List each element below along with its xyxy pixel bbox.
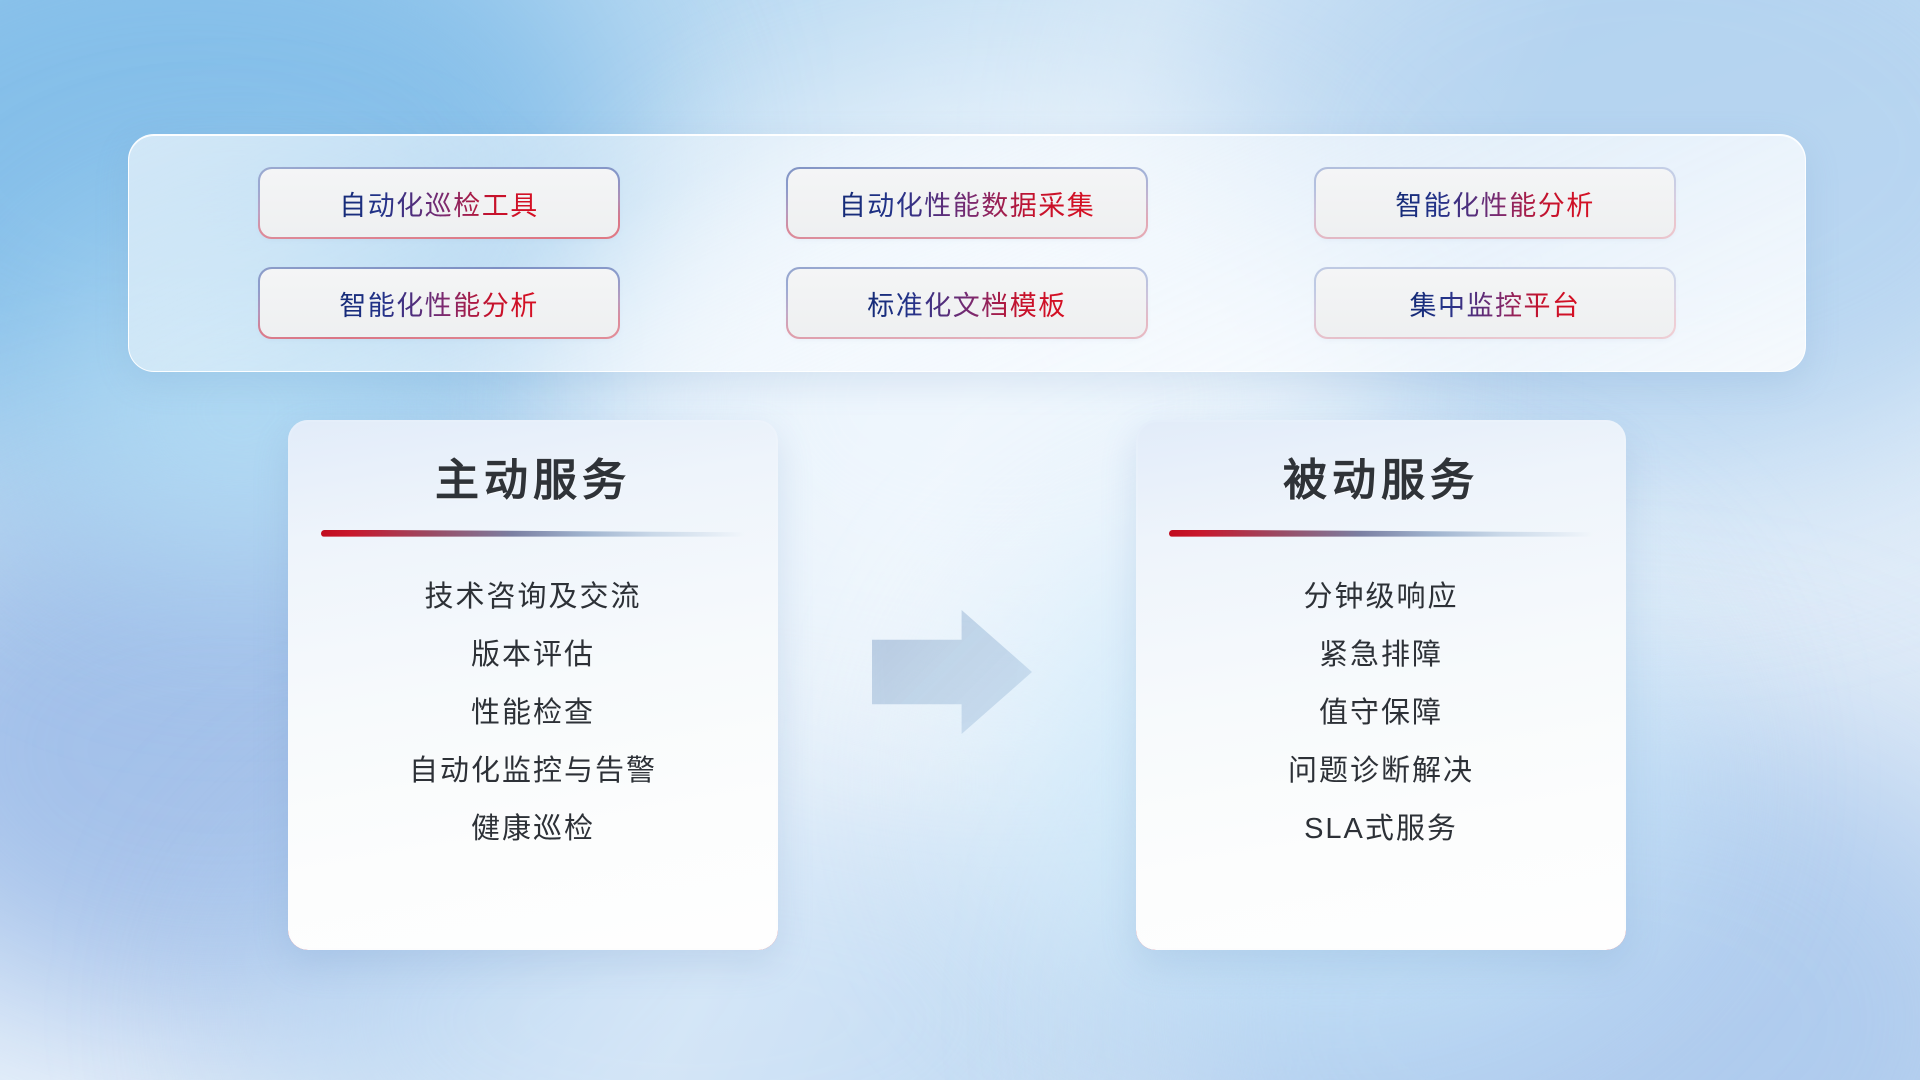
service-card-title: 主动服务 — [435, 444, 631, 508]
capability-tag-6[interactable]: 集中监控平台 — [1316, 269, 1674, 337]
capability-tag-label: 自动化性能数据采集 — [839, 184, 1096, 223]
capability-tags-panel: 自动化巡检工具 自动化性能数据采集 智能化性能分析 智能化性能分析 标准化文档模… — [128, 134, 1806, 372]
title-divider — [1169, 530, 1593, 537]
service-list-item: 版本评估 — [471, 627, 595, 685]
service-list-item: 分钟级响应 — [1303, 569, 1458, 627]
service-card-proactive[interactable]: 主动服务 技术咨询及交流 版本评估 性能检查 自动化监控与告警 健康巡检 — [288, 420, 778, 950]
arrow-right-icon — [872, 610, 1032, 734]
capability-tag-4[interactable]: 智能化性能分析 — [260, 269, 618, 337]
service-card-reactive[interactable]: 被动服务 分钟级响应 紧急排障 值守保障 问题诊断解决 SLA式服务 — [1136, 420, 1626, 950]
service-card-title: 被动服务 — [1283, 444, 1479, 508]
capability-tag-label: 智能化性能分析 — [339, 284, 539, 323]
title-divider — [321, 530, 745, 537]
capability-tag-5[interactable]: 标准化文档模板 — [788, 269, 1146, 337]
service-list-item: 值守保障 — [1319, 685, 1443, 743]
service-list-item: 自动化监控与告警 — [409, 743, 657, 801]
service-item-list: 分钟级响应 紧急排障 值守保障 问题诊断解决 SLA式服务 — [1138, 569, 1625, 859]
capability-tag-3[interactable]: 智能化性能分析 — [1316, 169, 1674, 237]
service-card-body: 被动服务 分钟级响应 紧急排障 值守保障 问题诊断解决 SLA式服务 — [1138, 422, 1625, 949]
capability-tag-label: 标准化文档模板 — [867, 284, 1067, 323]
diagram-stage: 自动化巡检工具 自动化性能数据采集 智能化性能分析 智能化性能分析 标准化文档模… — [0, 0, 1920, 1080]
service-list-item: 健康巡检 — [471, 801, 595, 859]
service-list-item: 性能检查 — [471, 685, 595, 743]
service-list-item: 紧急排障 — [1319, 627, 1443, 685]
service-card-body: 主动服务 技术咨询及交流 版本评估 性能检查 自动化监控与告警 健康巡检 — [290, 422, 777, 949]
service-list-item: 技术咨询及交流 — [424, 569, 641, 627]
service-list-item: 问题诊断解决 — [1288, 743, 1474, 801]
capability-tag-label: 自动化巡检工具 — [339, 184, 539, 223]
capability-tag-label: 集中监控平台 — [1410, 284, 1581, 323]
capability-tag-1[interactable]: 自动化巡检工具 — [260, 169, 618, 237]
service-item-list: 技术咨询及交流 版本评估 性能检查 自动化监控与告警 健康巡检 — [290, 569, 777, 859]
service-list-item: SLA式服务 — [1304, 801, 1458, 859]
capability-tag-label: 智能化性能分析 — [1395, 184, 1595, 223]
capability-tag-2[interactable]: 自动化性能数据采集 — [788, 169, 1146, 237]
